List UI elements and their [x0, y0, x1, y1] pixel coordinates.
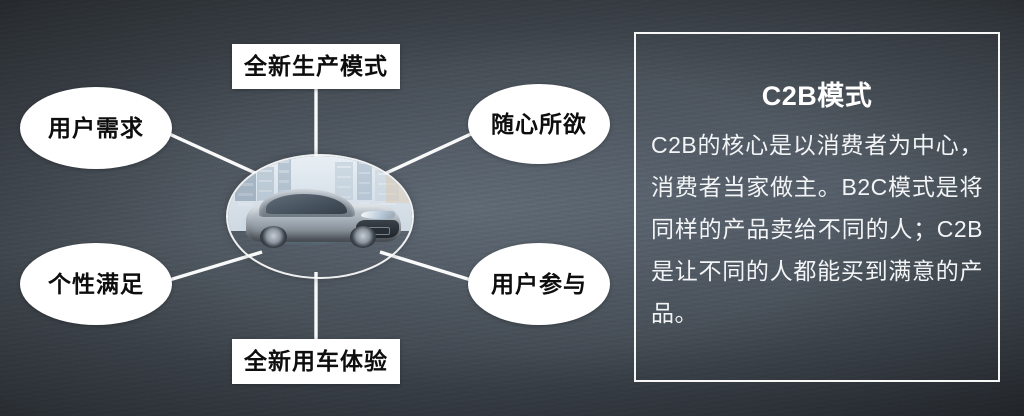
- panel-title: C2B模式: [636, 74, 998, 113]
- info-panel-layer: C2B模式 C2B的核心是以消费者为中心，消费者当家做主。B2C模式是将同样的产…: [0, 0, 1024, 416]
- diagram-canvas: 全新生产模式 用户需求 随心所欲 个性满足 用户参与 全新用车体验 C2B模式 …: [0, 0, 1024, 416]
- panel-body: C2B的核心是以消费者为中心，消费者当家做主。B2C模式是将同样的产品卖给不同的…: [651, 124, 983, 334]
- info-panel: C2B模式 C2B的核心是以消费者为中心，消费者当家做主。B2C模式是将同样的产…: [634, 32, 1000, 382]
